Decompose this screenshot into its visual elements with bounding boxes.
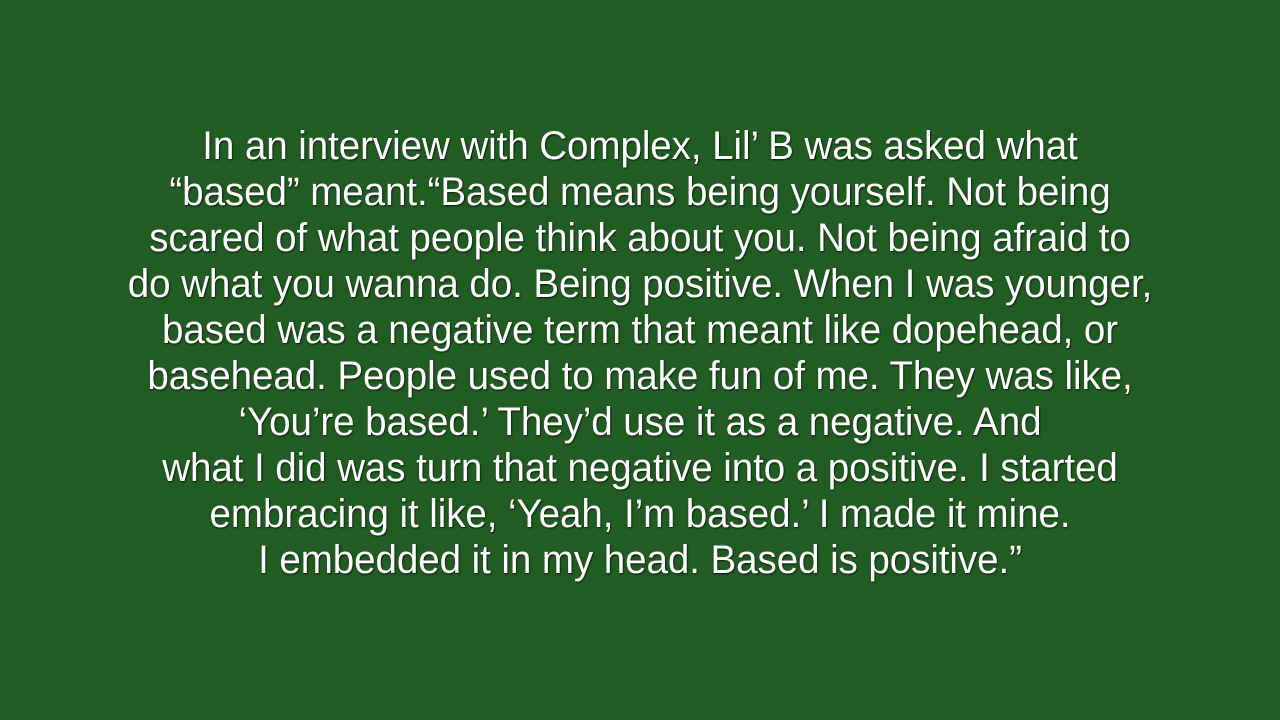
quote-text-block: In an interview with Complex, Lil’ B was… [0, 0, 1280, 583]
quote-line: I embedded it in my head. Based is posit… [22, 537, 1257, 583]
quote-line: what I did was turn that negative into a… [22, 445, 1257, 491]
quote-slide: In an interview with Complex, Lil’ B was… [0, 0, 1280, 720]
quote-line: scared of what people think about you. N… [22, 215, 1257, 261]
quote-line: In an interview with Complex, Lil’ B was… [22, 123, 1257, 169]
quote-line: basehead. People used to make fun of me.… [22, 353, 1257, 399]
quote-line: based was a negative term that meant lik… [22, 307, 1257, 353]
quote-line: ‘You’re based.’ They’d use it as a negat… [22, 399, 1257, 445]
quote-line: do what you wanna do. Being positive. Wh… [22, 261, 1257, 307]
quote-line: embracing it like, ‘Yeah, I’m based.’ I … [22, 491, 1257, 537]
quote-line: “based” meant.“Based means being yoursel… [22, 169, 1257, 215]
